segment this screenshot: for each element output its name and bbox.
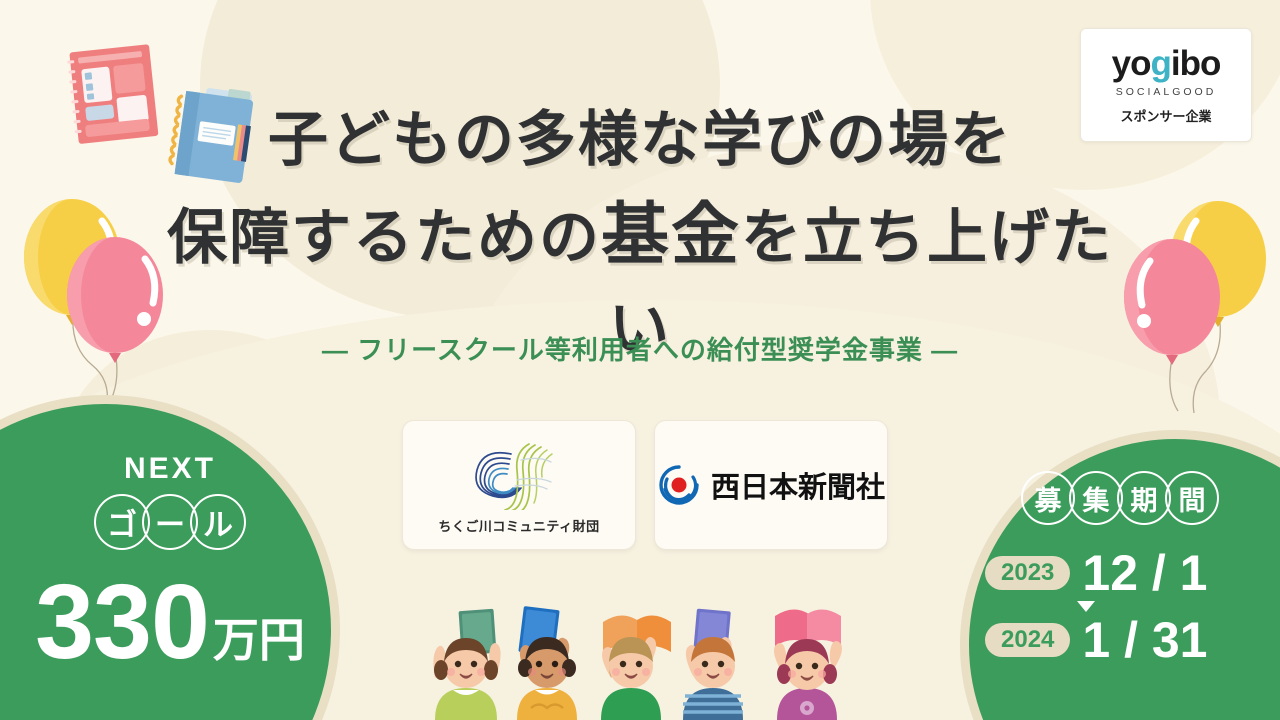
- period-end-row: 2024 1 / 31: [985, 614, 1255, 666]
- sponsor-tagline: SOCIALGOOD: [1116, 86, 1217, 98]
- campaign-banner: 子どもの多様な学びの場を 保障するための基金を立ち上げたい — フリースクール等…: [0, 0, 1280, 720]
- nishinippon-row: 西日本新聞社: [657, 463, 885, 507]
- period-start-row: 2023 12 / 1: [985, 547, 1255, 599]
- chikugo-river-community-foundation-logo-icon: [465, 436, 573, 510]
- period-start-year: 2023: [985, 556, 1070, 590]
- children-illustration: [405, 604, 875, 720]
- partner-name-chikugo: ちくご川コミュニティ財団: [438, 516, 599, 535]
- child-4: [683, 609, 743, 720]
- period-start-date: 12 / 1: [1082, 548, 1207, 598]
- nishinippon-shimbun-logo-icon: [657, 463, 701, 507]
- period-chip: 間: [1165, 471, 1219, 525]
- period-panel: 募 集 期 間 2023 12 / 1 2024 1 / 31: [960, 455, 1280, 720]
- partner-card-nishinippon: 西日本新聞社: [654, 420, 888, 550]
- period-chip: 期: [1117, 471, 1171, 525]
- child-5: [774, 609, 842, 720]
- period-chip-row: 募 集 期 間: [1021, 471, 1219, 525]
- period-chip: 集: [1069, 471, 1123, 525]
- yogibo-logo-part-yo: yo: [1112, 44, 1151, 83]
- period-dates: 2023 12 / 1 2024 1 / 31: [985, 547, 1255, 666]
- yogibo-logo: yogibo: [1112, 46, 1221, 81]
- period-chip: 募: [1021, 471, 1075, 525]
- arrow-down-icon: [1077, 601, 1095, 612]
- child-1: [433, 609, 500, 720]
- headline-emphasis: 基金: [601, 197, 741, 273]
- period-end-year: 2024: [985, 623, 1070, 657]
- partner-card-chikugo: ちくご川コミュニティ財団: [402, 420, 636, 550]
- headline-line-1: 子どもの多様な学びの場を: [150, 96, 1130, 185]
- headline-line2-part-a: 保障するための: [167, 204, 601, 271]
- yogibo-logo-part-ibo: ibo: [1171, 44, 1220, 83]
- child-3: [601, 615, 671, 720]
- partner-name-nishinippon: 西日本新聞社: [711, 464, 885, 506]
- yogibo-logo-part-g: g: [1150, 44, 1170, 83]
- child-2: [517, 606, 577, 720]
- period-end-date: 1 / 31: [1082, 615, 1207, 665]
- sponsor-badge: yogibo SOCIALGOOD スポンサー企業: [1080, 28, 1252, 142]
- page-subtitle: — フリースクール等利用者への給付型奨学金事業 —: [150, 330, 1130, 367]
- sponsor-note: スポンサー企業: [1120, 106, 1211, 125]
